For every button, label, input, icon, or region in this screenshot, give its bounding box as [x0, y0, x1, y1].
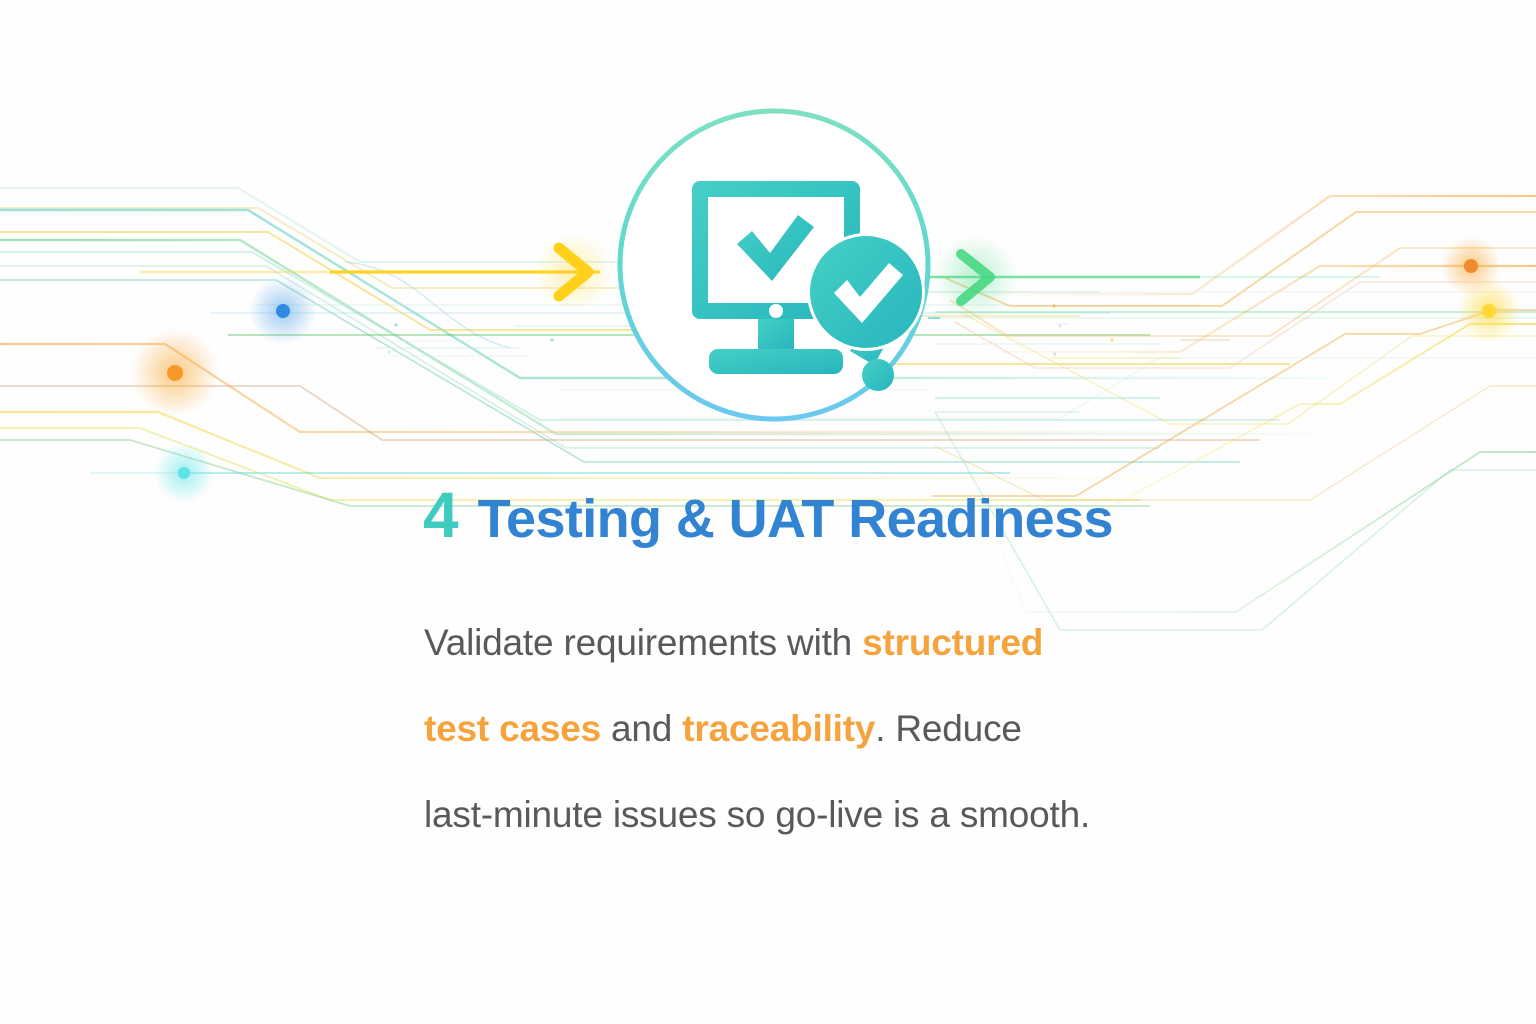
body-line2-and: and [601, 708, 682, 749]
node-glow-orange-right [1441, 236, 1501, 296]
highlight-structured: structured [862, 622, 1043, 663]
node-blue [276, 304, 290, 318]
icon-badge [612, 103, 936, 427]
highlight-test-cases: test cases [424, 708, 601, 749]
page-title: 4Testing & UAT Readiness [0, 478, 1536, 552]
node-glow-orange [131, 329, 219, 417]
title-text: Testing & UAT Readiness [478, 489, 1113, 549]
flow-arrow-right [930, 235, 1380, 319]
body-line1-text: Validate requirements with [424, 622, 862, 663]
node-glow-yellow [1457, 279, 1521, 343]
body-line-3: last-minute issues so go-live is a smoot… [424, 772, 1224, 858]
flow-arrow-left [140, 232, 613, 312]
node-orange [167, 365, 183, 381]
body-line-1: Validate requirements with structured [424, 600, 1224, 686]
body-line-2: test cases and traceability. Reduce [424, 686, 1224, 772]
highlight-traceability: traceability [682, 708, 875, 749]
step-number: 4 [423, 479, 458, 551]
slide-root: 4Testing & UAT Readiness Validate requir… [0, 0, 1536, 1024]
node-orange-right [1464, 259, 1478, 273]
body-line2-tail: . Reduce [875, 708, 1022, 749]
node-glow-blue [249, 277, 317, 345]
node-yellow [1482, 304, 1496, 318]
body-copy: Validate requirements with structured te… [424, 600, 1224, 858]
